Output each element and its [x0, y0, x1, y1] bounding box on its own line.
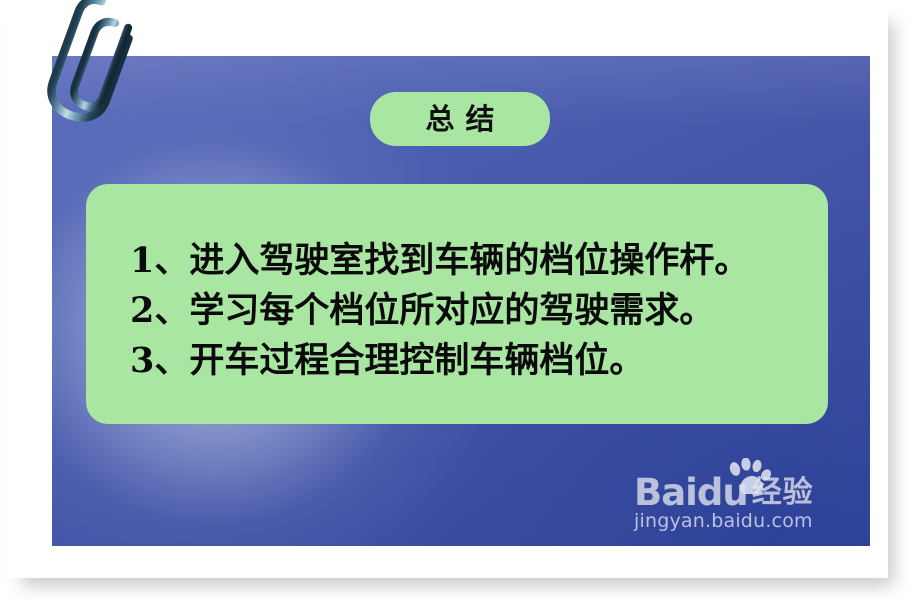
baidu-watermark: Baidu 经验 jingyan.baidu.com — [634, 456, 844, 538]
slide-card: 总结 1、进入驾驶室找到车辆的档位操作杆。 2、学习每个档位所对应的驾驶需求。 … — [8, 6, 888, 578]
watermark-brand-cn: 经验 — [752, 474, 814, 512]
page-title: 总结 — [414, 105, 505, 134]
list-item: 3、开车过程合理控制车辆档位。 — [130, 336, 828, 386]
watermark-url: jingyan.baidu.com — [634, 510, 813, 532]
slide-title-box: 总结 — [370, 92, 550, 146]
baidu-paw-icon — [726, 458, 774, 494]
list-item: 1、进入驾驶室找到车辆的档位操作杆。 — [130, 236, 828, 286]
slide-body: 总结 1、进入驾驶室找到车辆的档位操作杆。 2、学习每个档位所对应的驾驶需求。 … — [52, 56, 870, 546]
slide-page: 总结 1、进入驾驶室找到车辆的档位操作杆。 2、学习每个档位所对应的驾驶需求。 … — [0, 0, 917, 600]
watermark-brand-row: Baidu 经验 — [634, 472, 814, 512]
summary-content-box: 1、进入驾驶室找到车辆的档位操作杆。 2、学习每个档位所对应的驾驶需求。 3、开… — [86, 184, 828, 424]
watermark-brand: Baidu — [634, 474, 748, 512]
list-item: 2、学习每个档位所对应的驾驶需求。 — [130, 286, 828, 336]
